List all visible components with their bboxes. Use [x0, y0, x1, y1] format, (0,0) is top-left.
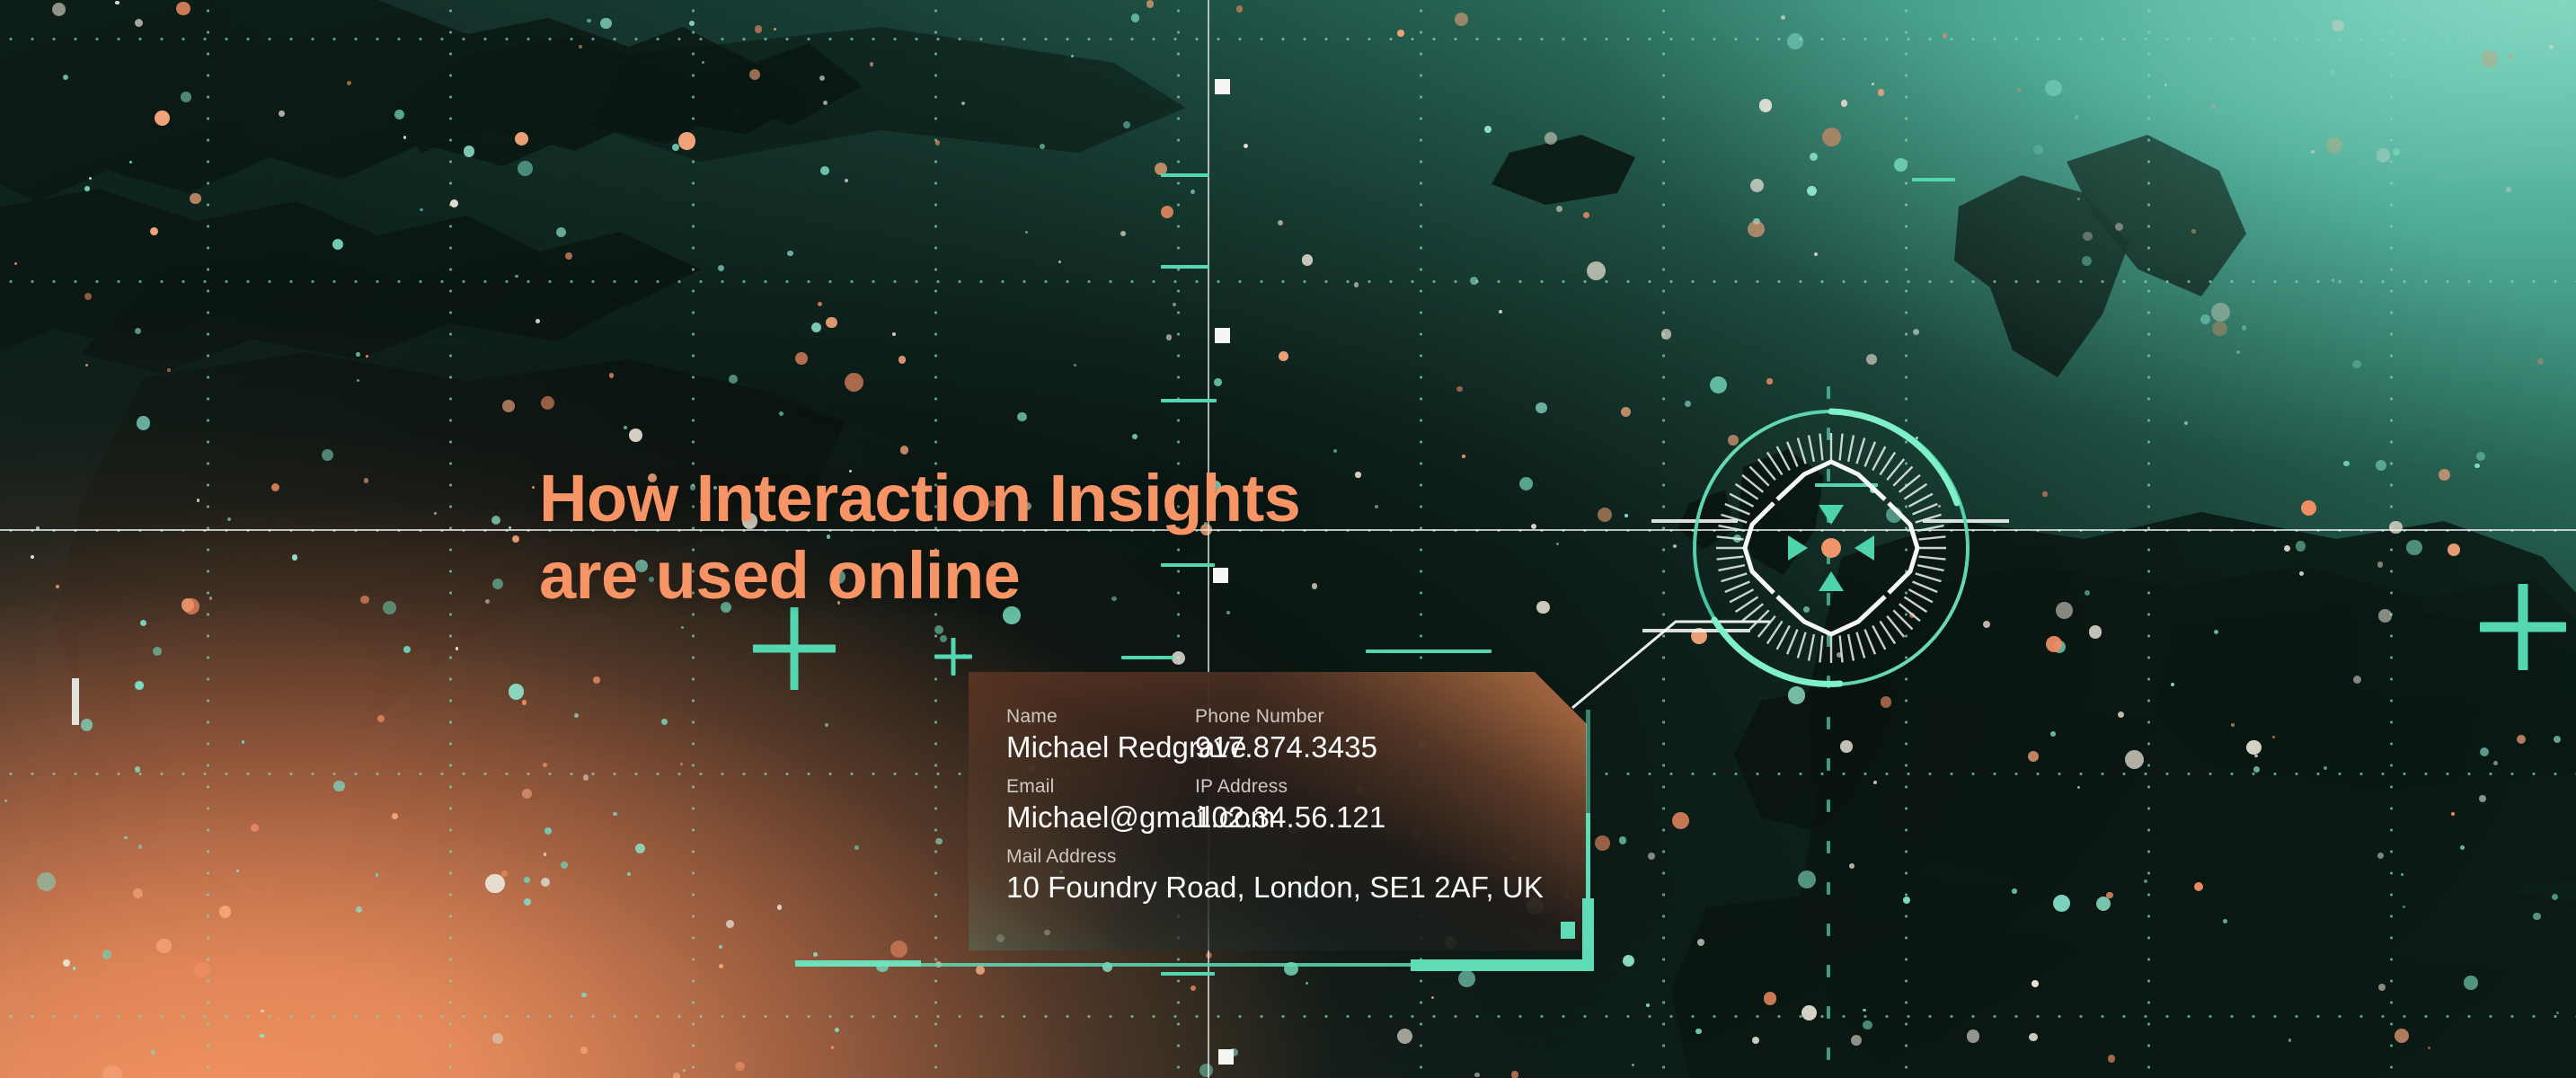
map-data-dot	[1511, 1071, 1518, 1078]
map-data-dot	[1748, 221, 1765, 238]
hud-dash-marker	[1912, 178, 1955, 181]
field-label: Phone Number	[1195, 706, 1377, 728]
map-data-dot	[683, 1069, 686, 1072]
map-data-dot	[135, 19, 143, 27]
map-data-dot	[434, 512, 438, 516]
map-data-dot	[52, 3, 66, 16]
map-data-dot	[2506, 187, 2511, 192]
hud-vtick-marker	[1827, 841, 1830, 853]
map-data-dot	[1545, 132, 1557, 145]
grid-cross-icon	[934, 638, 972, 676]
hud-vtick-marker	[1827, 923, 1830, 936]
map-data-dot	[1456, 386, 1463, 393]
grid-line-vertical	[1662, 0, 1665, 1078]
hud-vtick-marker	[1827, 882, 1830, 895]
map-data-dot	[81, 719, 93, 730]
map-data-dot	[976, 966, 985, 975]
map-data-dot	[1040, 144, 1045, 149]
map-data-dot	[2406, 540, 2422, 556]
map-data-dot	[2474, 464, 2480, 469]
map-data-dot	[831, 1046, 835, 1049]
map-data-dot	[492, 579, 503, 589]
map-data-dot	[31, 555, 34, 559]
map-data-dot	[532, 486, 535, 489]
map-data-dot	[227, 517, 231, 521]
map-data-dot	[292, 554, 297, 560]
map-data-dot	[2012, 888, 2017, 894]
map-data-dot	[627, 872, 631, 876]
hud-dash-marker	[1161, 265, 1209, 269]
map-data-dot	[1595, 835, 1610, 851]
field-ip-address: IP Address 102.34.56.121	[1195, 776, 1385, 835]
field-value: 102.34.56.121	[1195, 800, 1385, 835]
map-data-dot	[2460, 845, 2465, 850]
map-data-dot	[2108, 1055, 2116, 1063]
map-data-dot	[140, 620, 146, 626]
hud-vtick-marker	[1827, 386, 1830, 399]
map-data-dot	[755, 25, 763, 33]
hud-vtick-marker	[1827, 1006, 1830, 1019]
map-data-dot	[673, 1073, 680, 1078]
card-bracket-bottom-left	[795, 960, 921, 967]
map-data-dot	[1131, 13, 1140, 22]
map-data-dot	[1484, 126, 1492, 133]
map-data-dot	[2476, 452, 2485, 461]
map-data-dot	[819, 75, 825, 81]
map-data-dot	[1236, 5, 1244, 13]
map-data-dot	[2042, 491, 2047, 496]
map-data-dot	[2028, 751, 2039, 762]
field-value: 917.874.3435	[1195, 730, 1377, 764]
map-data-dot	[512, 535, 519, 543]
map-data-dot	[2056, 602, 2073, 619]
map-data-dot	[2451, 812, 2455, 816]
hud-square-marker	[1215, 328, 1230, 343]
grid-line-horizontal	[0, 1015, 2576, 1018]
map-data-dot	[366, 355, 368, 358]
map-data-dot	[2378, 609, 2392, 623]
map-data-dot	[167, 368, 171, 372]
map-data-dot	[2330, 70, 2335, 75]
map-data-dot	[181, 92, 191, 102]
map-data-dot	[156, 939, 171, 953]
map-data-dot	[600, 18, 612, 30]
map-data-dot	[1146, 0, 1155, 8]
map-data-dot	[1983, 621, 1990, 628]
map-data-dot	[1199, 1064, 1213, 1077]
field-value: 10 Foundry Road, London, SE1 2AF, UK	[1006, 870, 1544, 905]
map-data-dot	[356, 352, 360, 357]
map-data-dot	[1462, 455, 1465, 457]
map-data-dot	[1807, 186, 1817, 196]
map-data-dot	[190, 193, 201, 205]
map-data-dot	[394, 110, 404, 119]
map-data-dot	[1120, 231, 1126, 236]
map-data-dot	[2017, 88, 2021, 92]
map-data-dot	[153, 647, 162, 656]
map-data-dot	[826, 317, 837, 329]
grid-line-vertical	[2390, 0, 2393, 1078]
grid-line-vertical	[449, 0, 452, 1078]
card-bracket-bottom	[1411, 959, 1594, 971]
map-data-dot	[2378, 984, 2386, 991]
map-data-dot	[2288, 1038, 2291, 1041]
map-data-dot	[1519, 477, 1533, 490]
map-data-dot	[364, 478, 368, 482]
map-data-dot	[2549, 45, 2554, 49]
map-data-dot	[2223, 919, 2227, 923]
map-data-dot	[515, 275, 518, 278]
map-data-dot	[661, 719, 668, 725]
map-data-dot	[1536, 402, 1546, 413]
map-data-dot	[518, 161, 533, 176]
map-data-dot	[1355, 472, 1360, 477]
map-data-dot	[845, 179, 849, 183]
map-data-dot	[1397, 30, 1404, 37]
map-data-dot	[870, 62, 874, 66]
hud-vtick-marker	[1827, 1047, 1830, 1060]
map-data-dot	[2296, 541, 2306, 552]
map-data-dot	[155, 110, 170, 126]
map-data-dot	[1750, 179, 1764, 192]
map-data-dot	[1872, 83, 1874, 85]
map-data-dot	[1474, 1073, 1480, 1078]
map-data-dot	[183, 598, 199, 614]
map-data-dot	[1646, 1003, 1650, 1007]
map-data-dot	[2125, 750, 2144, 769]
map-data-dot	[890, 941, 907, 958]
profile-info-card[interactable]: Name Michael Redgrave Phone Number 917.8…	[969, 672, 1587, 950]
map-data-dot	[73, 967, 75, 969]
map-data-dot	[2032, 980, 2039, 987]
map-data-dot	[501, 870, 508, 877]
map-data-dot	[522, 700, 527, 705]
grid-cross-icon	[2480, 584, 2566, 670]
map-data-dot	[2053, 895, 2070, 912]
map-data-dot	[1312, 583, 1318, 589]
map-data-dot	[2096, 897, 2111, 911]
map-data-dot	[813, 952, 818, 957]
grid-line-horizontal	[0, 280, 2576, 283]
map-data-dot	[593, 676, 600, 684]
hud-dash-marker	[1161, 399, 1217, 402]
map-data-dot	[2464, 976, 2478, 990]
map-data-dot	[1132, 434, 1138, 439]
field-phone-number: Phone Number 917.874.3435	[1195, 706, 1377, 764]
card-corner-square-marker	[1561, 922, 1575, 939]
map-data-dot	[138, 844, 142, 848]
map-data-dot	[581, 993, 587, 998]
headline-line-1: How Interaction Insights	[539, 461, 1300, 535]
map-data-dot	[900, 446, 908, 454]
map-data-dot	[1840, 740, 1853, 753]
map-data-dot	[2231, 723, 2235, 727]
map-data-dot	[360, 596, 369, 605]
map-data-dot	[219, 906, 232, 918]
map-data-dot	[2194, 882, 2203, 891]
map-data-dot	[2448, 543, 2460, 556]
map-data-dot	[1499, 310, 1502, 314]
map-data-dot	[2347, 19, 2358, 30]
map-data-dot	[1710, 376, 1727, 393]
map-data-dot	[1841, 100, 1848, 107]
map-data-dot	[2083, 232, 2093, 242]
map-data-dot	[1214, 378, 1222, 386]
map-data-dot	[2439, 469, 2450, 481]
map-data-dot	[2253, 766, 2260, 773]
map-data-dot	[2533, 913, 2541, 921]
map-data-dot	[1583, 212, 1589, 218]
map-data-dot	[63, 959, 70, 967]
map-data-dot	[635, 844, 645, 853]
map-data-dot	[556, 227, 566, 237]
grid-line-vertical	[2147, 0, 2150, 1078]
map-data-dot	[613, 812, 617, 817]
map-data-dot	[2045, 80, 2061, 96]
map-data-dot	[522, 789, 532, 799]
map-data-dot	[2046, 636, 2062, 652]
map-data-dot	[124, 836, 127, 839]
map-data-dot	[492, 1033, 503, 1044]
map-data-dot	[2395, 1029, 2409, 1043]
grid-line-vertical	[207, 0, 209, 1078]
hud-dash-marker	[1161, 173, 1209, 177]
map-data-dot	[133, 888, 143, 898]
hud-dash-marker	[1161, 972, 1215, 976]
map-data-dot	[524, 877, 530, 883]
map-data-dot	[1673, 544, 1677, 548]
map-data-dot	[2089, 625, 2102, 639]
hud-square-marker	[1218, 1049, 1234, 1065]
map-data-dot	[2029, 1033, 2037, 1041]
map-data-dot	[2050, 731, 2056, 737]
map-data-dot	[2211, 104, 2216, 109]
map-data-dot	[524, 898, 531, 906]
hud-square-marker	[1215, 79, 1230, 94]
hud-vtick-marker	[1827, 758, 1830, 771]
map-data-dot	[1302, 254, 1313, 265]
map-data-dot	[276, 1017, 282, 1023]
map-data-dot	[322, 449, 333, 461]
map-data-dot	[1161, 206, 1173, 218]
map-data-dot	[735, 1062, 745, 1072]
map-data-dot	[197, 499, 199, 501]
map-data-dot	[135, 681, 144, 690]
map-data-dot	[2284, 545, 2290, 552]
map-data-dot	[1881, 696, 1891, 707]
map-data-dot	[1556, 206, 1562, 212]
map-data-dot	[1354, 282, 1359, 287]
field-mail-address: Mail Address 10 Foundry Road, London, SE…	[1006, 846, 1544, 905]
map-data-dot	[356, 906, 362, 913]
map-data-dot	[718, 265, 724, 271]
map-data-dot	[2377, 853, 2384, 859]
map-data-dot	[2554, 736, 2561, 743]
map-data-dot	[84, 186, 90, 191]
map-data-dot	[2389, 521, 2403, 535]
map-data-dot	[678, 132, 696, 150]
map-data-dot	[1455, 13, 1468, 26]
map-data-dot	[779, 411, 783, 416]
map-data-dot	[1822, 128, 1841, 146]
map-data-dot	[1849, 863, 1855, 869]
map-data-dot	[1894, 158, 1908, 172]
hud-dash-marker	[1366, 649, 1492, 653]
map-data-dot	[749, 69, 760, 80]
infographic-canvas: How Interaction Insightsare used online	[0, 0, 2576, 1078]
map-data-dot	[1766, 378, 1772, 384]
map-data-dot	[2479, 795, 2486, 802]
map-data-dot	[2377, 561, 2383, 567]
map-data-dot	[544, 827, 552, 835]
map-data-dot	[935, 838, 943, 845]
map-data-dot	[129, 161, 132, 163]
hud-vtick-marker	[1827, 965, 1830, 977]
map-data-dot	[1623, 955, 1634, 967]
map-data-dot	[2212, 322, 2227, 337]
headline-line-2: are used online	[539, 538, 1020, 613]
map-data-dot	[2214, 630, 2218, 634]
map-data-dot	[37, 872, 56, 891]
map-data-dot	[1598, 508, 1612, 522]
map-data-dot	[347, 81, 351, 85]
grid-line-horizontal	[0, 38, 2576, 40]
map-data-dot	[2537, 358, 2544, 365]
map-data-dot	[2075, 115, 2078, 119]
map-data-dot	[1801, 1005, 1817, 1021]
grid-cross-icon	[753, 607, 836, 690]
map-data-dot	[935, 140, 941, 146]
field-label: Mail Address	[1006, 846, 1544, 868]
map-data-dot	[485, 599, 490, 604]
map-data-dot	[485, 874, 504, 893]
map-data-dot	[1781, 15, 1785, 20]
map-data-dot	[151, 1050, 155, 1055]
map-data-dot	[333, 781, 344, 791]
map-data-dot	[2144, 879, 2147, 883]
map-data-dot	[383, 601, 396, 614]
map-data-dot	[332, 239, 343, 250]
map-data-dot	[854, 845, 858, 849]
map-data-dot	[777, 905, 783, 910]
map-data-dot	[2393, 148, 2400, 155]
map-data-dot	[536, 319, 540, 323]
map-data-dot	[2033, 145, 2043, 155]
map-data-dot	[150, 227, 158, 235]
map-data-dot	[1759, 99, 1773, 112]
map-data-dot	[509, 684, 525, 700]
map-data-dot	[1123, 121, 1130, 128]
field-label: IP Address	[1195, 776, 1385, 798]
hud-vtick-marker	[1827, 800, 1830, 812]
map-data-dot	[2326, 137, 2342, 154]
map-data-dot	[176, 2, 190, 16]
map-data-dot	[1624, 514, 1628, 517]
map-data-dot	[1863, 1021, 1872, 1030]
map-data-dot	[1531, 524, 1536, 529]
map-data-dot	[209, 596, 212, 599]
target-reticle-icon[interactable]	[1687, 404, 1975, 692]
map-data-dot	[1764, 992, 1777, 1005]
map-data-dot	[135, 766, 141, 773]
map-data-dot	[1191, 190, 1195, 194]
page-title: How Interaction Insightsare used online	[539, 460, 1300, 614]
map-data-dot	[541, 878, 550, 887]
map-data-dot	[63, 75, 68, 80]
map-data-dot	[392, 813, 398, 819]
map-data-dot	[2377, 148, 2391, 163]
hud-dash-marker	[1121, 656, 1173, 659]
card-content: Name Michael Redgrave Phone Number 917.8…	[969, 672, 1587, 950]
map-data-dot	[587, 19, 590, 22]
map-data-dot	[2343, 461, 2349, 466]
hud-tick-marker	[72, 678, 79, 725]
map-data-dot	[2077, 786, 2080, 789]
map-data-dot	[2517, 735, 2526, 744]
